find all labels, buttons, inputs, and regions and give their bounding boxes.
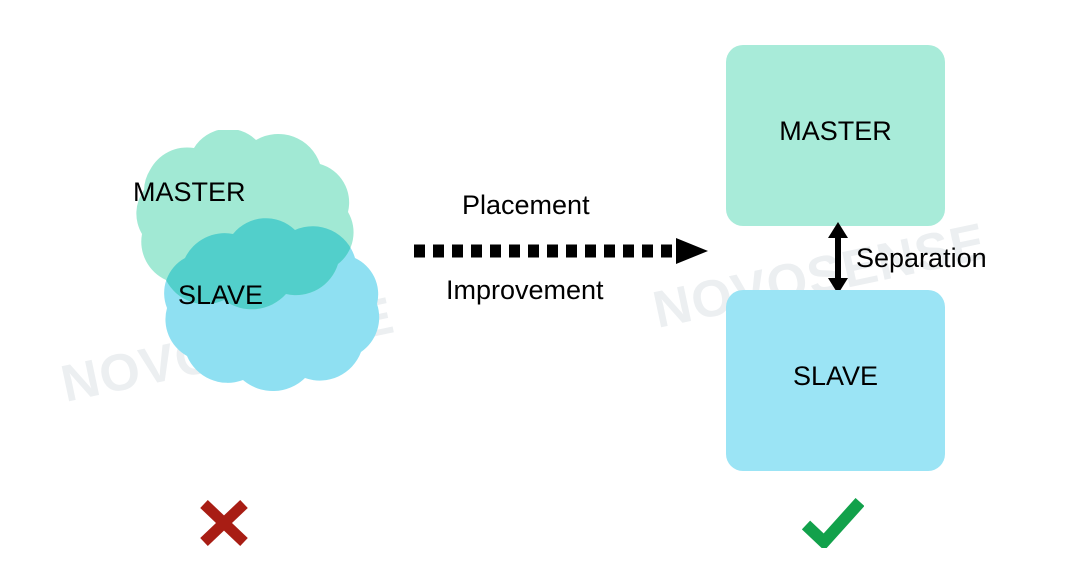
diagram-canvas: NOVOSENSE NOVOSENSE MASTER SLAVE — [0, 0, 1076, 563]
dashed-right-arrow-icon — [410, 236, 710, 266]
cloud-label-master: MASTER — [133, 177, 246, 208]
overlapping-clouds-group — [55, 130, 415, 420]
transition-bottom-label: Improvement — [446, 275, 746, 306]
cloud-label-slave: SLAVE — [178, 280, 263, 311]
master-block: MASTER — [726, 45, 945, 226]
double-headed-vertical-arrow-icon — [822, 222, 854, 294]
master-block-label: MASTER — [779, 116, 892, 147]
separation-label: Separation — [856, 243, 987, 274]
slave-block: SLAVE — [726, 290, 945, 471]
slave-block-label: SLAVE — [793, 361, 878, 392]
transition-group: Placement Improvement — [410, 180, 710, 320]
transition-top-label: Placement — [462, 190, 762, 221]
check-mark-icon — [802, 498, 864, 548]
cross-mark-icon — [196, 497, 252, 549]
